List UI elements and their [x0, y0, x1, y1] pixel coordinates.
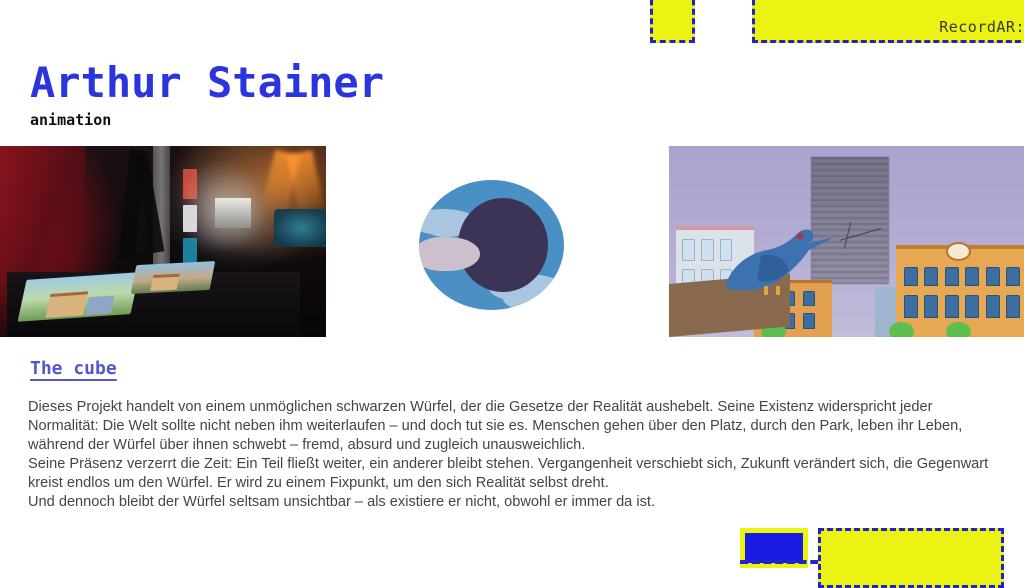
- bird-icon: [669, 146, 1024, 337]
- project-link-the-cube[interactable]: The cube: [30, 358, 117, 379]
- studio-screen-back: [130, 260, 215, 293]
- logo-blob: [419, 237, 480, 271]
- portfolio-page: RecordAR: Arthur Stainer animation: [0, 0, 1024, 576]
- sticker-top-wide: RecordAR:: [752, 0, 1024, 43]
- logo-mark[interactable]: [419, 180, 564, 310]
- studio-lightbox: [215, 198, 251, 229]
- sticker-bottom-dashed-line: [740, 560, 830, 564]
- project-description: Dieses Projekt handelt von einem unmögli…: [28, 398, 994, 512]
- sticker-blue-block: [745, 533, 803, 563]
- page-subtitle: animation: [30, 111, 111, 129]
- sticker-bottom-wide: [818, 528, 1004, 588]
- city-render[interactable]: [669, 146, 1024, 337]
- screen-artwork-house: [150, 273, 180, 290]
- studio-screen-front: [17, 272, 139, 322]
- screen-artwork-building: [85, 295, 114, 314]
- studio-teal-prop: [274, 209, 326, 247]
- sticker-top-small: [650, 0, 695, 43]
- studio-photo[interactable]: [0, 146, 326, 337]
- record-ar-label: RecordAR:: [939, 18, 1024, 40]
- screen-artwork-house: [45, 292, 88, 318]
- page-title: Arthur Stainer: [30, 58, 384, 107]
- logo-outer-circle: [419, 180, 564, 310]
- studio-red-wall: [0, 146, 85, 284]
